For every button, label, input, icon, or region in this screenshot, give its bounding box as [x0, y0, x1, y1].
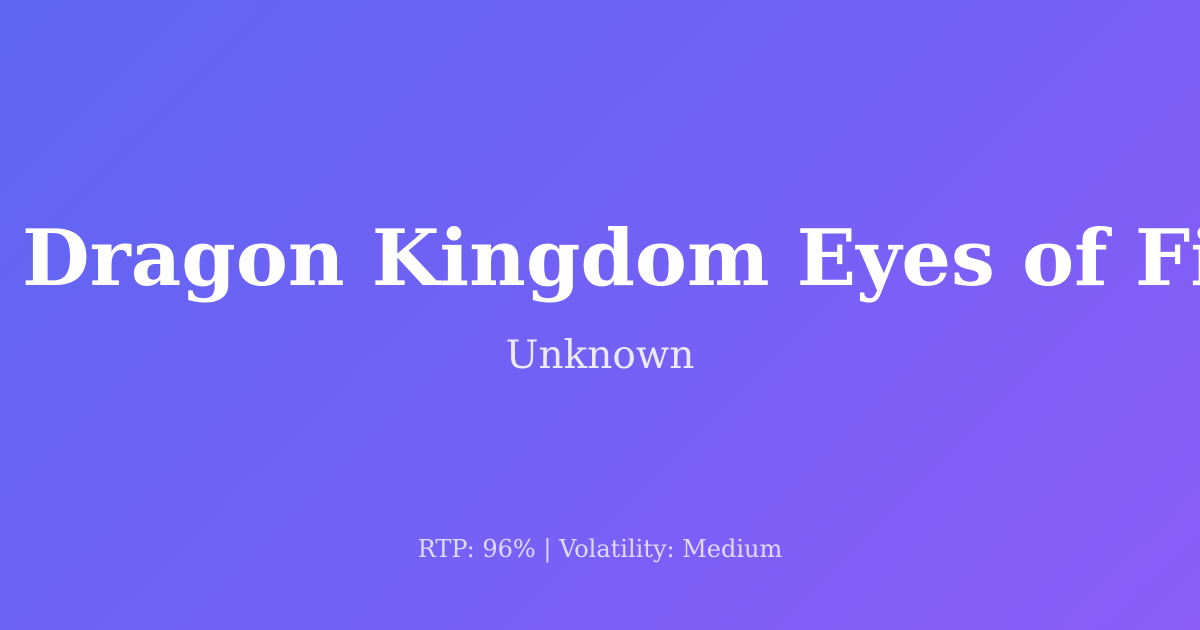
page-title: Dragon Kingdom Eyes of Fire	[0, 218, 1200, 301]
game-provider-label: Unknown	[506, 335, 695, 378]
game-promo-card: Dragon Kingdom Eyes of Fire Unknown RTP:…	[0, 0, 1200, 630]
card-center-block: Dragon Kingdom Eyes of Fire Unknown	[0, 218, 1200, 378]
game-stats-line: RTP: 96% | Volatility: Medium	[0, 535, 1200, 564]
